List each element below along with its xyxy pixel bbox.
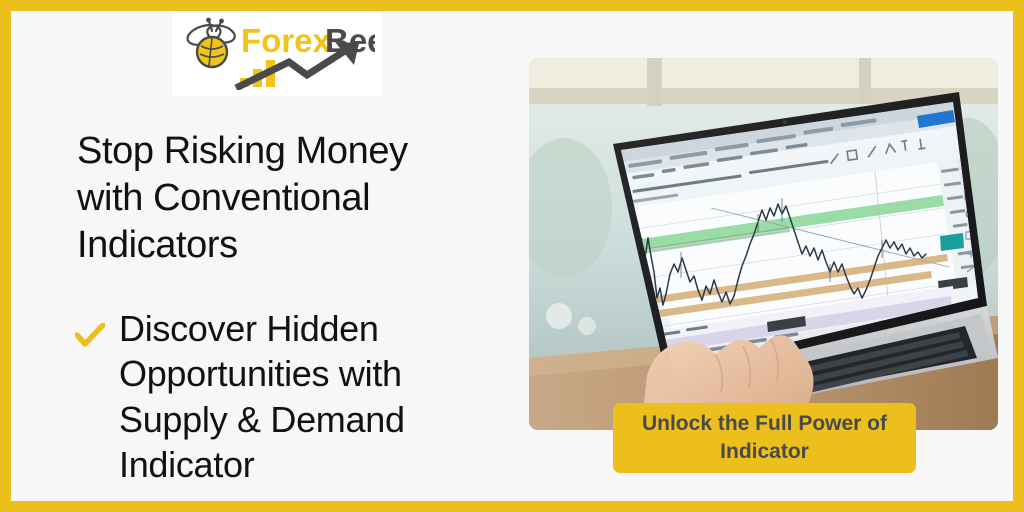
ad-content-area: Forex Bee Stop Risking Money with Conven… bbox=[11, 11, 1013, 501]
svg-text:Forex: Forex bbox=[241, 22, 332, 59]
forexbee-logo-icon: Forex Bee bbox=[179, 16, 375, 90]
cta-line-2: Indicator bbox=[720, 440, 809, 463]
feature-bullet-text: Discover Hidden Opportunities with Suppl… bbox=[119, 306, 405, 487]
headline-line-3: Indicators bbox=[77, 224, 238, 266]
laptop-trading-photo bbox=[529, 58, 998, 430]
bullet-line-1: Discover Hidden bbox=[119, 308, 379, 349]
brand-logo[interactable]: Forex Bee bbox=[172, 11, 382, 96]
bullet-line-3: Supply & Demand bbox=[119, 399, 405, 440]
headline-line-1: Stop Risking Money bbox=[77, 130, 408, 172]
feature-bullet: Discover Hidden Opportunities with Suppl… bbox=[75, 306, 495, 487]
ad-banner: Forex Bee Stop Risking Money with Conven… bbox=[0, 0, 1024, 512]
cta-label: Unlock the Full Power of Indicator bbox=[642, 410, 887, 465]
cta-line-1: Unlock the Full Power of bbox=[642, 412, 887, 435]
headline-line-2: with Conventional bbox=[77, 177, 370, 219]
check-icon bbox=[75, 323, 105, 349]
cta-button[interactable]: Unlock the Full Power of Indicator bbox=[613, 403, 916, 473]
page-title: Stop Risking Money with Conventional Ind… bbox=[77, 128, 487, 269]
bullet-line-4: Indicator bbox=[119, 444, 254, 485]
bullet-line-2: Opportunities with bbox=[119, 353, 402, 394]
hero-photo bbox=[529, 58, 998, 430]
